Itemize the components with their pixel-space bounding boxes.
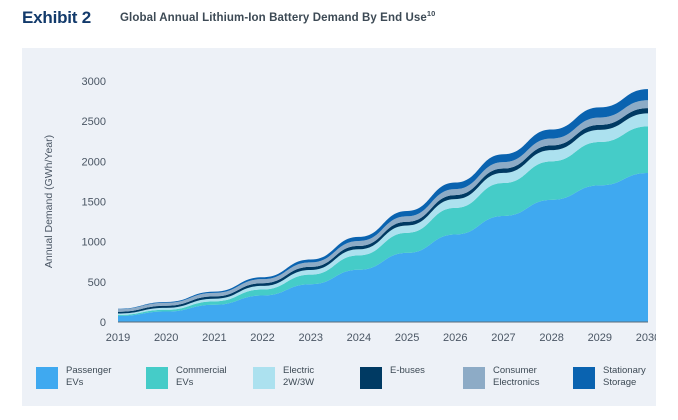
- x-axis-tick-label: 2022: [250, 332, 274, 344]
- footnote-marker: 10: [427, 9, 436, 18]
- y-axis-title: Annual Demand (GWh/Year): [43, 135, 55, 268]
- exhibit-header: Exhibit 2 Global Annual Lithium-Ion Batt…: [0, 0, 678, 48]
- y-axis-tick-label: 0: [100, 317, 106, 329]
- chart-panel: 050010001500200025003000Annual Demand (G…: [22, 48, 656, 406]
- x-axis-tick-label: 2020: [154, 332, 178, 344]
- x-axis-tick-label: 2026: [443, 332, 467, 344]
- legend-color-swatch: [463, 367, 485, 389]
- legend-color-swatch: [360, 367, 382, 389]
- x-axis-tick-label: 2021: [202, 332, 226, 344]
- y-axis-tick-label: 3000: [82, 76, 106, 88]
- stacked-area-chart: 050010001500200025003000Annual Demand (G…: [22, 48, 656, 353]
- exhibit-container: Exhibit 2 Global Annual Lithium-Ion Batt…: [0, 0, 678, 420]
- x-axis-tick-label: 2028: [539, 332, 563, 344]
- y-axis-tick-label: 2000: [82, 156, 106, 168]
- legend-color-swatch: [146, 367, 168, 389]
- legend-item-label: Passenger EVs: [66, 365, 146, 388]
- x-axis-tick-label: 2023: [298, 332, 322, 344]
- legend-item-label: Stationary Storage: [603, 365, 678, 388]
- x-axis-tick-label: 2030: [636, 332, 656, 344]
- x-axis-tick-label: 2019: [106, 332, 130, 344]
- y-axis-tick-label: 1500: [82, 197, 106, 209]
- page-title-text: Global Annual Lithium-Ion Battery Demand…: [120, 12, 427, 24]
- x-axis-tick-label: 2024: [347, 332, 371, 344]
- exhibit-number-label: Exhibit 2: [22, 8, 91, 28]
- x-axis-tick-label: 2025: [395, 332, 419, 344]
- legend-item-label: E-buses: [390, 365, 470, 377]
- x-axis-tick-label: 2029: [588, 332, 612, 344]
- y-axis-tick-label: 500: [88, 277, 106, 289]
- legend-color-swatch: [36, 367, 58, 389]
- legend-item-label: Commercial EVs: [176, 365, 256, 388]
- x-axis-tick-label: 2027: [491, 332, 515, 344]
- y-axis-tick-label: 1000: [82, 237, 106, 249]
- chart-legend: Passenger EVsCommercial EVsElectric 2W/3…: [22, 356, 656, 406]
- legend-color-swatch: [573, 367, 595, 389]
- legend-item-label: Electric 2W/3W: [283, 365, 363, 388]
- y-axis-tick-label: 2500: [82, 116, 106, 128]
- page-title: Global Annual Lithium-Ion Battery Demand…: [120, 12, 435, 24]
- legend-color-swatch: [253, 367, 275, 389]
- legend-item-label: Consumer Electronics: [493, 365, 573, 388]
